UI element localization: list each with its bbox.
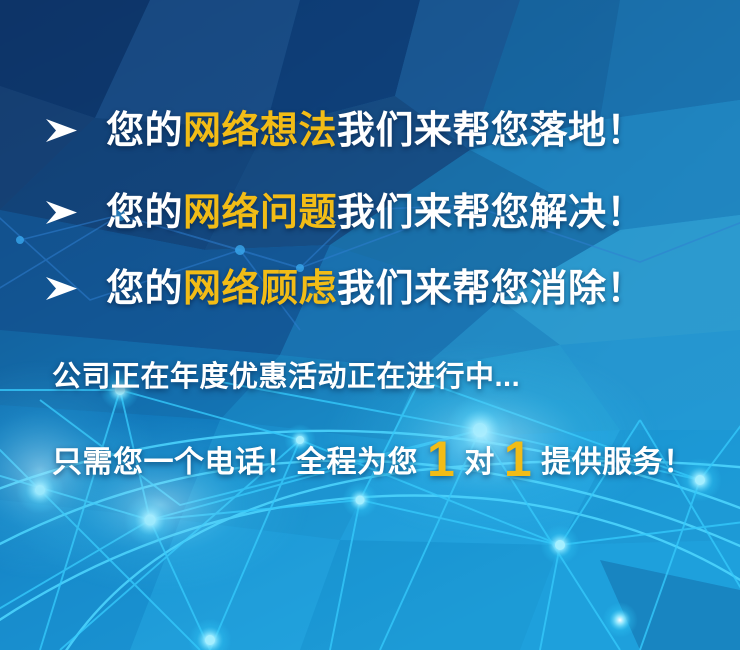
headline-3-highlight: 网络顾虑	[183, 268, 337, 310]
headline-text-1: 您的网络想法我们来帮您落地！	[106, 112, 645, 150]
headline-3-prefix: 您的	[106, 268, 183, 310]
headline-row-2: 您的网络问题我们来帮您解决！	[44, 186, 645, 240]
banner-content: 您的网络想法我们来帮您落地！ 您的网络问题我们来帮您解决！ 您的网络顾虑我们来帮…	[0, 0, 740, 650]
service-text-part2: 提供服务！	[541, 448, 694, 478]
promo-banner: 您的网络想法我们来帮您落地！ 您的网络问题我们来帮您解决！ 您的网络顾虑我们来帮…	[0, 0, 740, 650]
service-text-middle: 对	[464, 448, 495, 478]
headline-2-suffix: 我们来帮您解决！	[337, 192, 645, 234]
headline-row-1: 您的网络想法我们来帮您落地！	[44, 104, 645, 158]
promo-subline: 公司正在年度优惠活动正在进行中...	[52, 363, 520, 392]
arrow-right-icon	[44, 198, 78, 228]
headline-2-highlight: 网络问题	[183, 192, 337, 234]
headline-text-2: 您的网络问题我们来帮您解决！	[106, 194, 645, 232]
headline-row-3: 您的网络顾虑我们来帮您消除！	[44, 262, 645, 316]
service-number-first: 1	[418, 434, 464, 484]
headline-1-suffix: 我们来帮您落地！	[337, 110, 645, 152]
service-text-part1: 只需您一个电话！全程为您	[52, 448, 418, 478]
arrow-right-icon	[44, 116, 78, 146]
headline-3-suffix: 我们来帮您消除！	[337, 268, 645, 310]
service-number-second: 1	[495, 434, 541, 484]
headline-text-3: 您的网络顾虑我们来帮您消除！	[106, 270, 645, 308]
service-subline: 只需您一个电话！全程为您 1 对 1 提供服务！	[52, 430, 694, 480]
headline-1-highlight: 网络想法	[183, 110, 337, 152]
headline-1-prefix: 您的	[106, 110, 183, 152]
headline-2-prefix: 您的	[106, 192, 183, 234]
arrow-right-icon	[44, 274, 78, 304]
